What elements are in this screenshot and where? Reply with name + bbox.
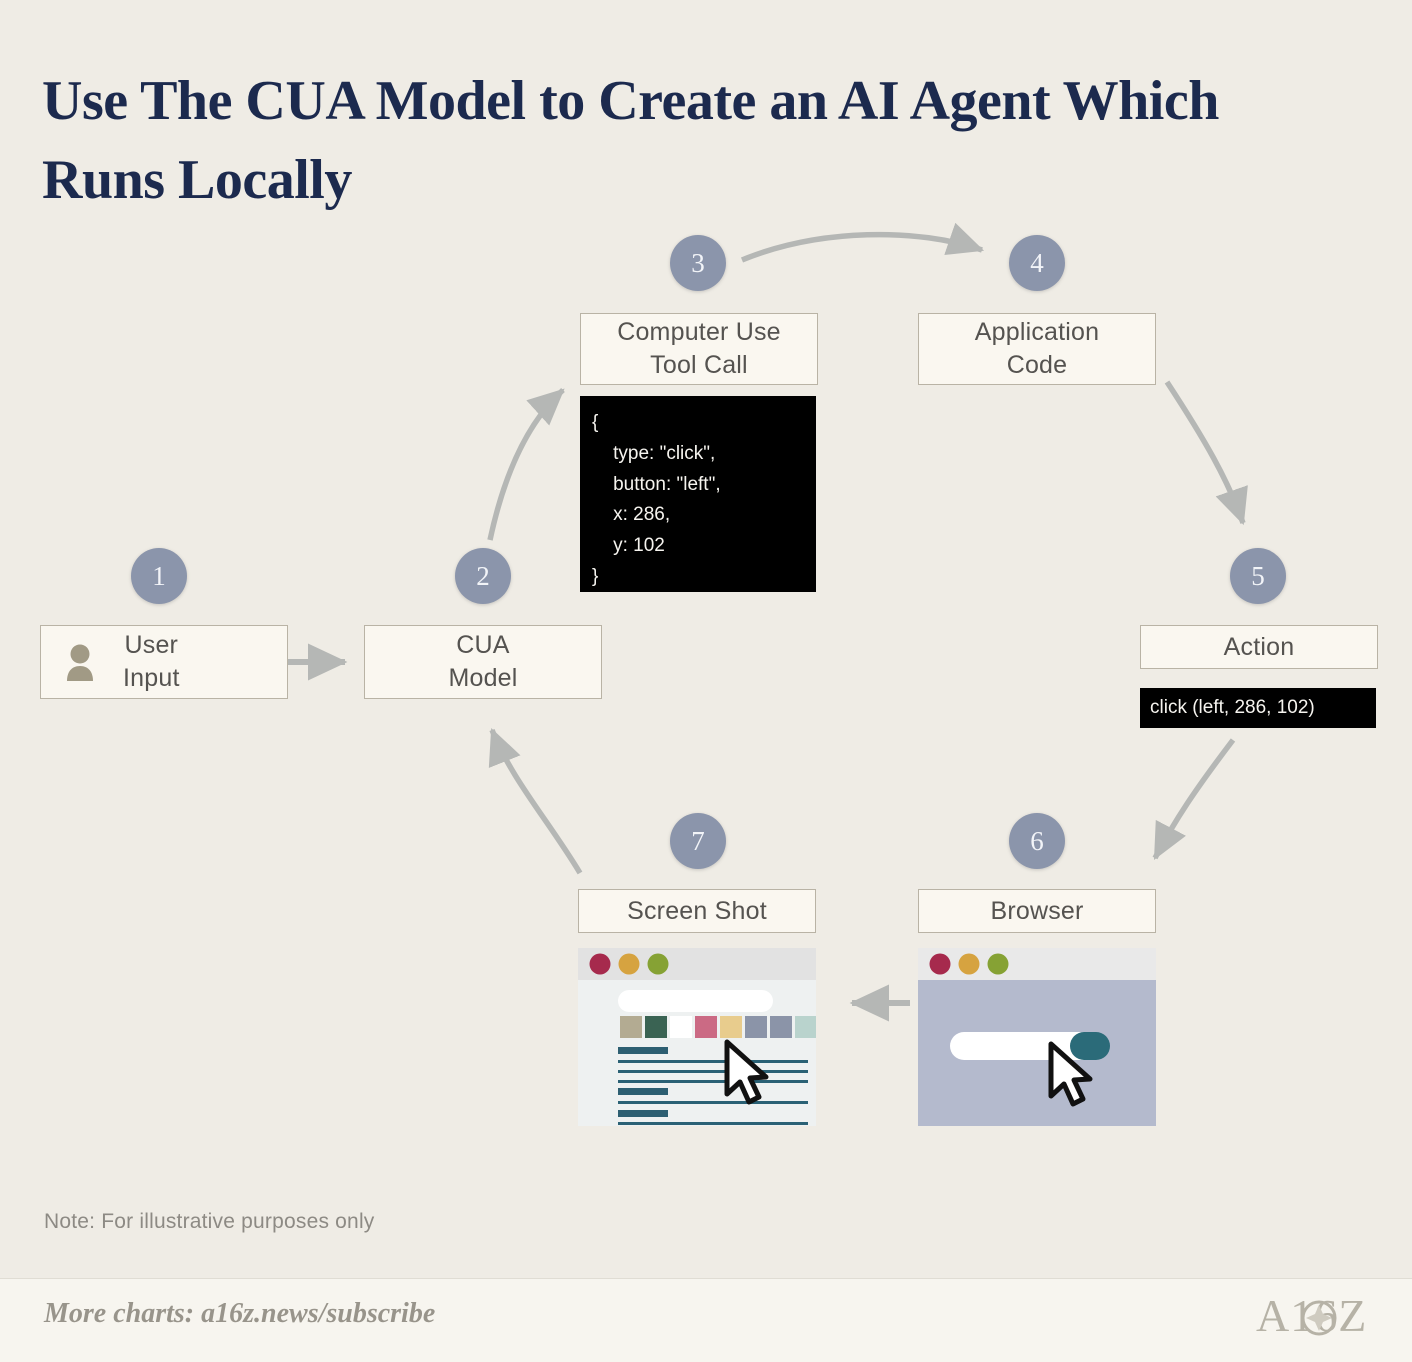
user-icon	[63, 643, 97, 681]
node-computer-use-tool-call[interactable]: Computer Use Tool Call	[580, 313, 818, 385]
traffic-light-green-icon	[988, 954, 1009, 975]
step-number-4: 4	[1030, 248, 1044, 279]
node-user-input-label: User Input	[123, 629, 180, 695]
step-number-6: 6	[1030, 826, 1044, 857]
page-title: Use The CUA Model to Create an AI Agent …	[42, 62, 1242, 221]
arrow-application-code-to-action	[1167, 382, 1243, 523]
step-badge-5: 5	[1230, 548, 1286, 604]
node-action[interactable]: Action	[1140, 625, 1378, 669]
step-number-1: 1	[152, 561, 166, 592]
node-browser[interactable]: Browser	[918, 889, 1156, 933]
traffic-light-red-icon	[930, 954, 951, 975]
arrow-screenshot-to-cua-model	[492, 730, 580, 873]
traffic-light-green-icon	[648, 954, 669, 975]
node-cua-model[interactable]: CUA Model	[364, 625, 602, 699]
arrow-cua-model-to-tool-call	[490, 390, 563, 540]
action-code-block: click (left, 286, 102)	[1140, 688, 1376, 728]
tool-call-code-block: { type: "click", button: "left", x: 286,…	[580, 396, 816, 592]
node-browser-label: Browser	[990, 895, 1083, 928]
step-badge-2: 2	[455, 548, 511, 604]
node-action-label: Action	[1224, 631, 1295, 664]
traffic-light-yellow-icon	[959, 954, 980, 975]
step-badge-1: 1	[131, 548, 187, 604]
mock-search-bar	[618, 990, 773, 1012]
arrow-action-to-browser	[1155, 740, 1233, 858]
a16z-logo: A16Z	[1256, 1288, 1376, 1344]
node-user-input[interactable]: User Input	[40, 625, 288, 699]
node-screen-shot[interactable]: Screen Shot	[578, 889, 816, 933]
step-number-3: 3	[691, 248, 705, 279]
mock-search-button	[1070, 1032, 1110, 1060]
step-badge-3: 3	[670, 235, 726, 291]
node-cua-model-label: CUA Model	[448, 629, 517, 695]
step-badge-6: 6	[1009, 813, 1065, 869]
step-number-7: 7	[691, 826, 705, 857]
traffic-light-yellow-icon	[619, 954, 640, 975]
screenshot-window-mock	[578, 948, 816, 1126]
arrow-tool-call-to-application-code	[742, 235, 982, 260]
node-application-code[interactable]: Application Code	[918, 313, 1156, 385]
node-application-code-label: Application Code	[975, 316, 1100, 382]
infographic-canvas: Use The CUA Model to Create an AI Agent …	[0, 0, 1412, 1362]
step-number-2: 2	[476, 561, 490, 592]
step-badge-4: 4	[1009, 235, 1065, 291]
step-number-5: 5	[1251, 561, 1265, 592]
footnote: Note: For illustrative purposes only	[44, 1210, 375, 1234]
node-screen-shot-label: Screen Shot	[627, 895, 767, 928]
browser-window-mock	[918, 948, 1156, 1126]
step-badge-7: 7	[670, 813, 726, 869]
node-computer-use-tool-call-label: Computer Use Tool Call	[617, 316, 781, 382]
more-charts-link[interactable]: More charts: a16z.news/subscribe	[44, 1298, 435, 1330]
traffic-light-red-icon	[590, 954, 611, 975]
